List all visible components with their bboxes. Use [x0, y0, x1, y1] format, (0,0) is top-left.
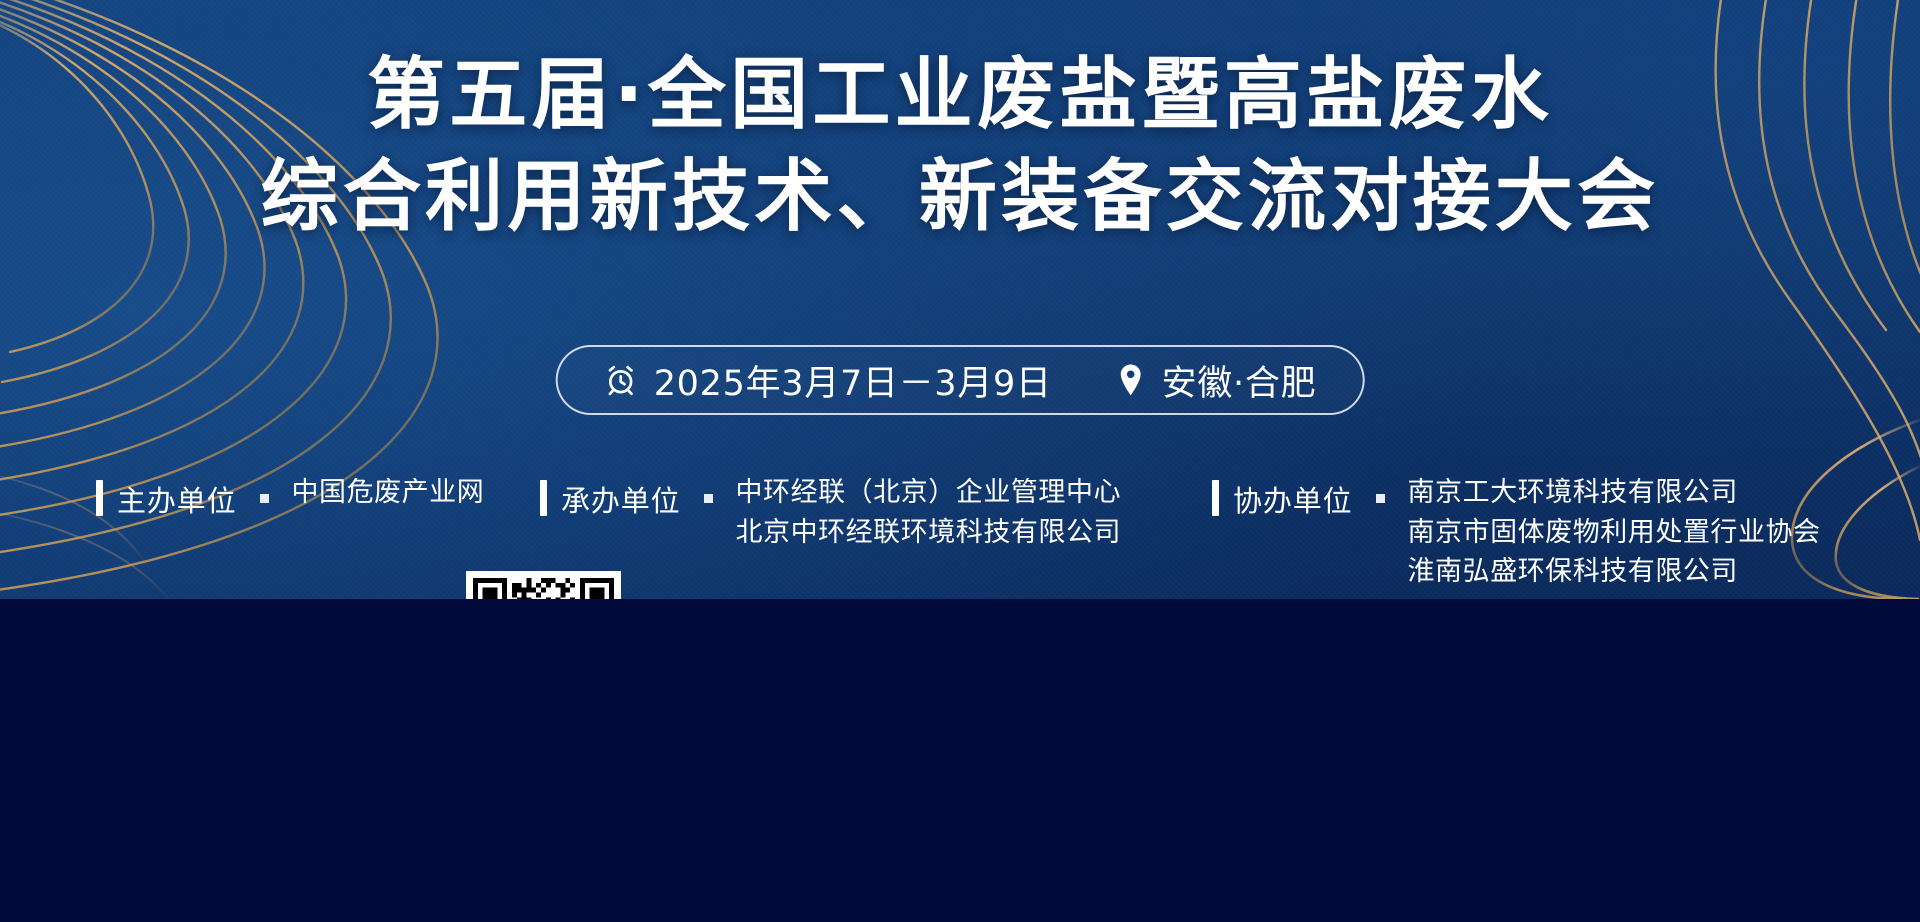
- poster-stage: 第五届·全国工业废盐暨高盐废水 综合利用新技术、新装备交流对接大会 2025年3…: [0, 0, 1920, 922]
- map-pin-icon: [1116, 363, 1146, 397]
- date-cell: 2025年3月7日－3月9日: [604, 355, 1052, 406]
- title-block: 第五届·全国工业废盐暨高盐废水 综合利用新技术、新装备交流对接大会: [0, 56, 1920, 236]
- organizer-coorganizer: 协办单位 南京工大环境科技有限公司 南京市固体废物利用处置行业协会 淮南弘盛环保…: [1212, 476, 1821, 590]
- organizer-name: 淮南弘盛环保科技有限公司: [1407, 555, 1820, 590]
- accent-bar: [96, 480, 103, 516]
- organizers-block: 主办单位 中国危废产业网 承办单位 中环经联（北京）企业管理中心 北京中环经联环…: [0, 462, 1920, 599]
- organizer-name: 中环经联（北京）企业管理中心: [735, 476, 1121, 511]
- location-cell: 安徽·合肥: [1116, 355, 1317, 406]
- title-line-2: 综合利用新技术、新装备交流对接大会: [0, 158, 1920, 236]
- organizer-undertaker: 承办单位 中环经联（北京）企业管理中心 北京中环经联环境科技有限公司: [540, 476, 1121, 550]
- conference-date: 2025年3月7日－3月9日: [654, 355, 1052, 406]
- organizer-name: 南京市固体废物利用处置行业协会: [1407, 516, 1820, 551]
- bullet-square-icon: [1376, 494, 1385, 503]
- organizer-label: 主办单位: [117, 478, 236, 520]
- organizer-names: 中环经联（北京）企业管理中心 北京中环经联环境科技有限公司: [735, 476, 1121, 550]
- lower-dark-band: [0, 599, 1920, 922]
- organizer-name: 中国危废产业网: [291, 476, 484, 511]
- conference-location: 安徽·合肥: [1162, 355, 1317, 406]
- bullet-square-icon: [704, 494, 713, 503]
- bullet-square-icon: [260, 494, 269, 503]
- qr-code[interactable]: [466, 571, 621, 599]
- title-line-1: 第五届·全国工业废盐暨高盐废水: [0, 56, 1920, 134]
- organizer-name: 南京工大环境科技有限公司: [1407, 476, 1820, 511]
- qr-code-image: [473, 578, 614, 599]
- organizer-host: 主办单位 中国危废产业网: [96, 476, 484, 520]
- date-location-pill: 2025年3月7日－3月9日 安徽·合肥: [556, 345, 1365, 415]
- organizer-names: 中国危废产业网: [291, 476, 484, 511]
- accent-bar: [540, 480, 547, 516]
- alarm-clock-icon: [604, 363, 638, 397]
- organizer-label: 协办单位: [1233, 478, 1352, 520]
- conference-banner: 第五届·全国工业废盐暨高盐废水 综合利用新技术、新装备交流对接大会 2025年3…: [0, 0, 1920, 599]
- organizer-names: 南京工大环境科技有限公司 南京市固体废物利用处置行业协会 淮南弘盛环保科技有限公…: [1407, 476, 1820, 590]
- accent-bar: [1212, 480, 1219, 516]
- organizer-name: 北京中环经联环境科技有限公司: [735, 516, 1121, 551]
- organizer-label: 承办单位: [561, 478, 680, 520]
